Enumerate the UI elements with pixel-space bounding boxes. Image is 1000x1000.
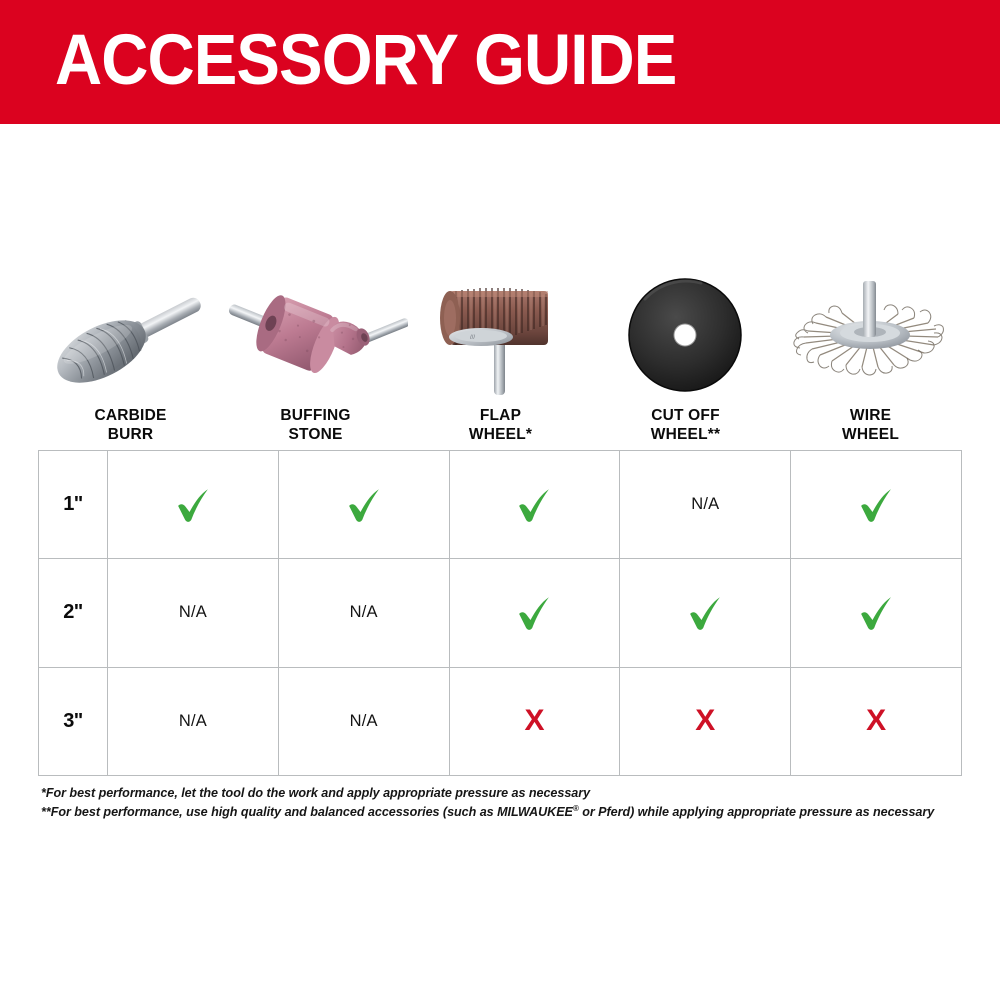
product-buffing-stone: BUFFING STONE [223,262,408,444]
cell-1in-cut-off-wheel: N/A [620,451,791,558]
header-banner: ACCESSORY GUIDE [0,0,1000,124]
table-row: 2" N/A N/A [39,559,961,667]
na-label: N/A [350,603,378,622]
footnote-text-part1: **For best performance, use high quality… [41,805,573,819]
check-icon [513,484,555,526]
footnote-double-asterisk: **For best performance, use high quality… [41,803,961,822]
cell-3in-flap-wheel: X [450,668,621,775]
cell-2in-carbide-burr: N/A [108,559,279,666]
product-wire-wheel: WIRE WHEEL [778,262,963,444]
cut-off-wheel-icon [593,273,778,401]
na-label: N/A [691,495,719,514]
row-header-size: 2" [39,559,108,666]
check-icon [513,592,555,634]
x-icon: X [866,706,886,736]
accessory-guide-page: ACCESSORY GUIDE [0,0,1000,1000]
table-row: 1" N/A [39,451,961,559]
product-label-carbide-burr: CARBIDE BURR [94,407,166,444]
check-icon [684,592,726,634]
product-image-row: CARBIDE BURR [38,262,962,444]
check-icon [855,484,897,526]
x-icon: X [695,706,715,736]
cell-1in-wire-wheel [791,451,961,558]
product-label-cut-off-wheel: CUT OFF WHEEL** [651,407,720,444]
x-icon: X [524,706,544,736]
product-carbide-burr: CARBIDE BURR [38,262,223,444]
page-title: ACCESSORY GUIDE [55,25,676,96]
check-icon [343,484,385,526]
na-label: N/A [179,603,207,622]
cell-2in-cut-off-wheel [620,559,791,666]
check-icon [855,592,897,634]
footnote-text-part2: or Pferd) while applying appropriate pre… [579,805,934,819]
footnotes: *For best performance, let the tool do t… [41,784,961,822]
product-flap-wheel: /// FLAP WHEEL* [408,262,593,444]
cell-3in-cut-off-wheel: X [620,668,791,775]
flap-wheel-icon: /// [408,273,593,401]
table-row: 3" N/A N/A X X X [39,668,961,775]
svg-text:///: /// [470,335,475,341]
carbide-burr-icon [38,273,223,401]
row-header-size: 3" [39,668,108,775]
cell-3in-buffing-stone: N/A [279,668,450,775]
product-cut-off-wheel: CUT OFF WHEEL** [593,262,778,444]
cell-1in-flap-wheel [450,451,621,558]
cell-3in-wire-wheel: X [791,668,961,775]
wire-wheel-icon [778,273,963,401]
row-header-size: 1" [39,451,108,558]
cell-2in-flap-wheel [450,559,621,666]
cell-1in-carbide-burr [108,451,279,558]
product-label-wire-wheel: WIRE WHEEL [842,407,899,444]
cell-2in-buffing-stone: N/A [279,559,450,666]
footnote-single-asterisk: *For best performance, let the tool do t… [41,784,961,803]
compatibility-table: 1" N/A [38,450,962,776]
na-label: N/A [350,712,378,731]
cell-1in-buffing-stone [279,451,450,558]
check-icon [172,484,214,526]
product-label-buffing-stone: BUFFING STONE [280,407,350,444]
cell-2in-wire-wheel [791,559,961,666]
cell-3in-carbide-burr: N/A [108,668,279,775]
product-label-flap-wheel: FLAP WHEEL* [469,407,532,444]
buffing-stone-icon [223,273,408,401]
na-label: N/A [179,712,207,731]
